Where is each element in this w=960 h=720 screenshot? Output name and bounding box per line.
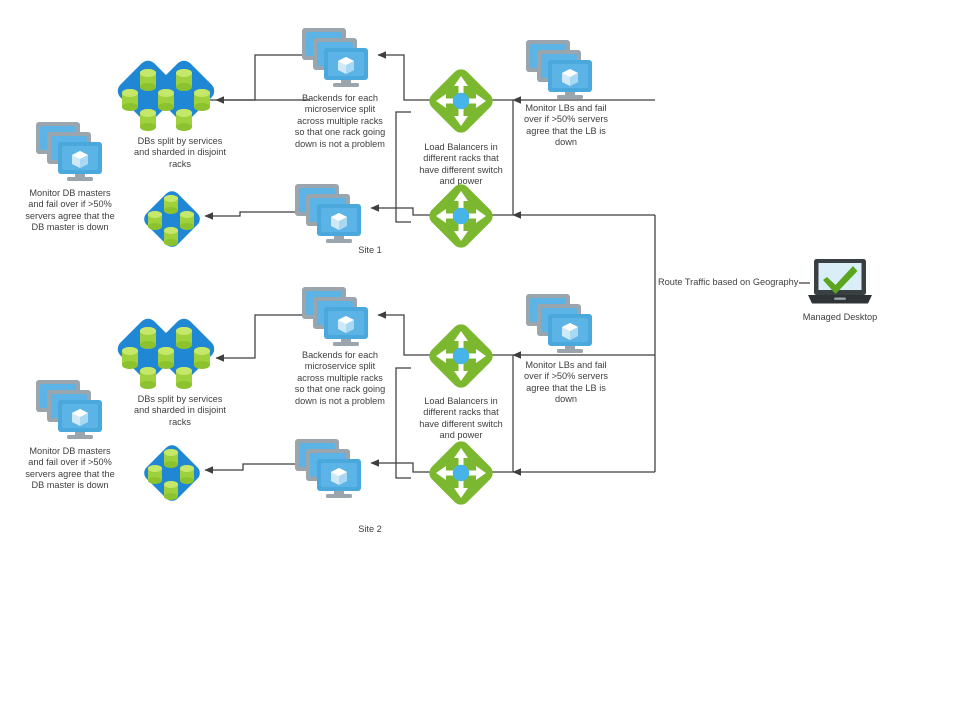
architecture-diagram-canvas: Monitor DB masters and fail over if >50%… [0,0,960,720]
managed-desktop[interactable] [808,258,872,308]
load-balancer-icon [424,64,498,138]
site-1-lb-monitor[interactable] [524,38,602,100]
edge-backend2b-to-dbsmall2 [205,464,296,470]
site-2-db-monitor-caption: Monitor DB masters and fail over if >50%… [10,446,130,492]
site-1-load-balancer-bottom[interactable] [424,179,498,253]
site-2-load-balancer-caption: Load Balancers in different racks that h… [404,396,518,442]
site-1-db-cluster-large[interactable] [114,57,218,145]
database-cluster-icon [139,186,205,252]
site-2-backend-secondary[interactable] [293,437,371,499]
site-2-lb-monitor-caption: Monitor LBs and fail over if >50% server… [511,360,621,406]
site-2-backend-primary-caption: Backends for each microservice split acr… [274,350,406,407]
monitor-stack-icon [34,378,112,440]
site-1-load-balancer-top[interactable] [424,64,498,138]
load-balancer-icon [424,319,498,393]
site-1-db-cluster-small[interactable] [139,186,205,252]
database-cluster-icon [139,440,205,506]
load-balancer-icon [424,436,498,510]
site-2-load-balancer-top[interactable] [424,319,498,393]
monitor-stack-icon [34,120,112,182]
site-1-label: Site 1 [330,245,410,255]
monitor-stack-icon [293,437,371,499]
edge-backend1b-to-dbsmall1 [205,212,296,216]
site-2-label: Site 2 [330,524,410,534]
site-1-db-monitor[interactable] [34,120,112,182]
site-1-backend-primary[interactable] [300,26,378,88]
site-2-db-cluster-large-caption: DBs split by services and sharded in dis… [117,394,243,428]
laptop-check-icon [808,258,872,308]
site-2-lb-monitor[interactable] [524,292,602,354]
route-traffic-label: Route Traffic based on Geography [657,277,799,287]
load-balancer-icon [424,179,498,253]
managed-desktop-caption: Managed Desktop [790,312,890,323]
site-2-load-balancer-bottom[interactable] [424,436,498,510]
site-1-backend-primary-caption: Backends for each microservice split acr… [274,93,406,150]
database-cluster-icon [114,315,218,403]
site-2-db-cluster-large[interactable] [114,315,218,403]
site-2-db-cluster-small[interactable] [139,440,205,506]
site-1-backend-secondary[interactable] [293,182,371,244]
site-2-backend-primary[interactable] [300,285,378,347]
monitor-stack-icon [300,26,378,88]
site-2-db-monitor[interactable] [34,378,112,440]
monitor-stack-icon [524,38,602,100]
database-cluster-icon [114,57,218,145]
site-1-lb-monitor-caption: Monitor LBs and fail over if >50% server… [511,103,621,149]
monitor-stack-icon [300,285,378,347]
site-1-db-cluster-large-caption: DBs split by services and sharded in dis… [117,136,243,170]
monitor-stack-icon [524,292,602,354]
monitor-stack-icon [293,182,371,244]
site-1-db-monitor-caption: Monitor DB masters and fail over if >50%… [10,188,130,234]
